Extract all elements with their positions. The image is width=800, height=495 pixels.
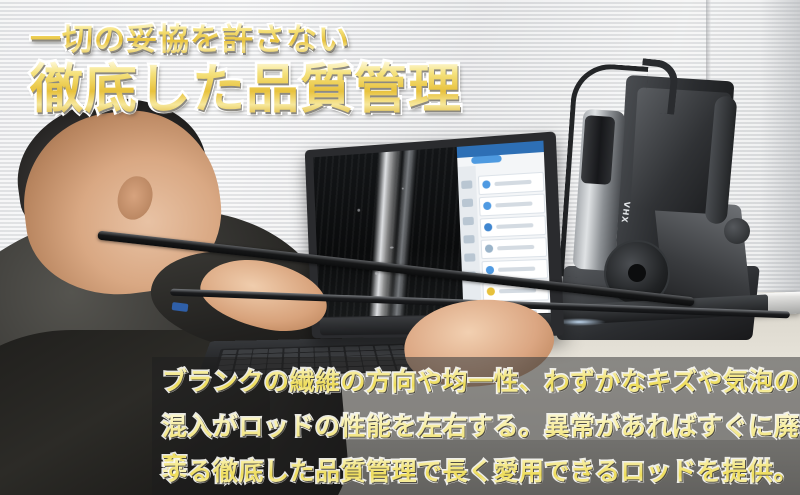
caption-overlay: ブランクの繊維の方向や均一性、わずかなキズや気泡の ブランクの繊維の方向や均一性… (152, 357, 800, 495)
microscope-cable (559, 62, 649, 282)
caption-row: する徹底した品質管理で長く愛用できるロッドを提供。 する徹底した品質管理で長く愛… (152, 452, 800, 492)
laptop-screen (313, 141, 551, 317)
caption-row: ブランクの繊維の方向や均一性、わずかなキズや気泡の ブランクの繊維の方向や均一性… (152, 362, 800, 402)
caption-line-3: する徹底した品質管理で長く愛用できるロッドを提供。 (152, 452, 800, 492)
app-active-tab (471, 155, 502, 164)
caption-row: 混入がロッドの性能を左右する。異常があればすぐに廃棄 混入がロッドの性能を左右す… (152, 407, 800, 447)
microscope-focus-knob (724, 218, 750, 244)
promo-banner: VHX (0, 0, 800, 495)
microscope-capture-image (313, 147, 463, 317)
caption-line-1: ブランクの繊維の方向や均一性、わずかなキズや気泡の (152, 362, 800, 402)
